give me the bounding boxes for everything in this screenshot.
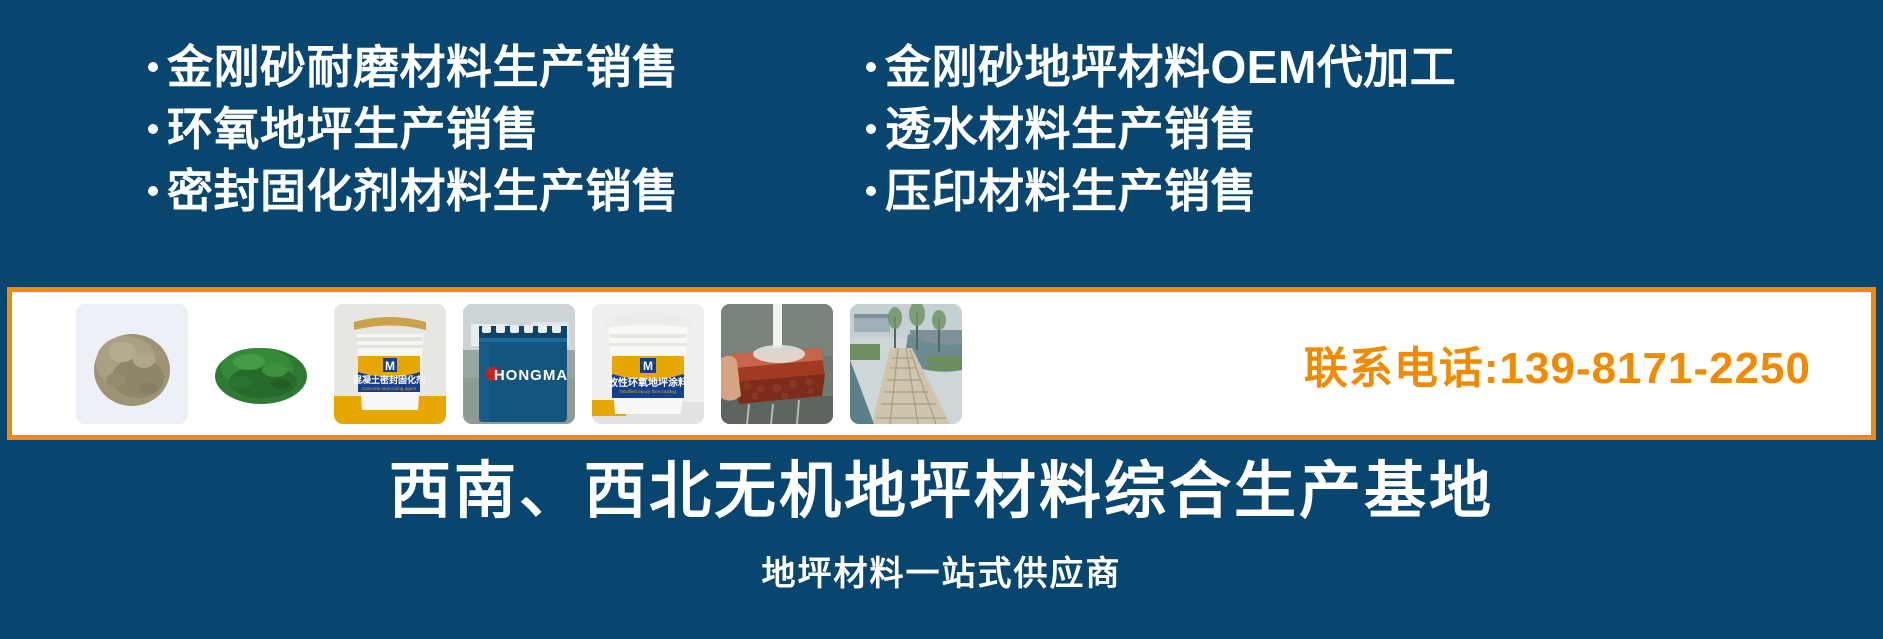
thumbnail-white-pail-epoxy-floor-coating: M 改性环氧地坪涂料 Modified epoxy floor coating (592, 304, 704, 424)
service-label: 金刚砂地坪材料OEM代加工 (885, 38, 1456, 96)
service-label: 金刚砂耐磨材料生产销售 (167, 38, 679, 96)
svg-text:HONGMA: HONGMA (494, 367, 568, 384)
service-item: 环氧地坪生产销售 (148, 100, 679, 158)
thumbnail-row: M 混凝土密封固化剂 Concrete seal curing agent (76, 304, 962, 424)
svg-text:M: M (643, 359, 653, 373)
contact-phone[interactable]: 联系电话:139-8171-2250 (1304, 332, 1811, 396)
thumbnail-blue-drum-hongma: HONGMA (463, 304, 575, 424)
thumbnail-white-pail-concrete-sealer: M 混凝土密封固化剂 Concrete seal curing agent (334, 304, 446, 424)
bullet-dot-icon (148, 186, 158, 196)
advertising-banner: 金刚砂耐磨材料生产销售 环氧地坪生产销售 密封固化剂材料生产销售 金刚砂地坪材料… (0, 0, 1883, 639)
service-label: 压印材料生产销售 (885, 162, 1257, 220)
bullet-dot-icon (866, 124, 876, 134)
service-label: 环氧地坪生产销售 (167, 100, 539, 158)
service-label: 透水材料生产销售 (885, 100, 1257, 158)
svg-text:改性环氧地坪涂料: 改性环氧地坪涂料 (608, 376, 688, 389)
service-item: 透水材料生产销售 (866, 100, 1456, 158)
svg-text:Concrete seal curing agent: Concrete seal curing agent (362, 386, 417, 391)
service-list-right: 金刚砂地坪材料OEM代加工 透水材料生产销售 压印材料生产销售 (866, 38, 1456, 220)
subheadline: 地坪材料一站式供应商 (0, 552, 1883, 596)
svg-text:M: M (385, 359, 395, 373)
bullet-dot-icon (148, 62, 158, 72)
service-list-left: 金刚砂耐磨材料生产销售 环氧地坪生产销售 密封固化剂材料生产销售 (148, 38, 679, 220)
thumbnail-permeable-concrete-water-test (721, 304, 833, 424)
service-item: 金刚砂耐磨材料生产销售 (148, 38, 679, 96)
svg-text:混凝土密封固化剂: 混凝土密封固化剂 (353, 374, 425, 386)
thumbnail-green-abrasive-powder-pile (205, 304, 317, 424)
product-photo-strip: M 混凝土密封固化剂 Concrete seal curing agent (7, 287, 1876, 440)
headline: 西南、西北无机地坪材料综合生产基地 (0, 455, 1883, 529)
bullet-dot-icon (148, 124, 158, 134)
thumbnail-stamped-concrete-walkway (850, 304, 962, 424)
bullet-dot-icon (866, 62, 876, 72)
service-item: 密封固化剂材料生产销售 (148, 162, 679, 220)
service-item: 金刚砂地坪材料OEM代加工 (866, 38, 1456, 96)
thumbnail-gray-abrasive-powder-pile (76, 304, 188, 424)
service-label: 密封固化剂材料生产销售 (167, 162, 679, 220)
service-item: 压印材料生产销售 (866, 162, 1456, 220)
bullet-dot-icon (866, 186, 876, 196)
svg-text:Modified epoxy floor coating: Modified epoxy floor coating (620, 389, 677, 394)
